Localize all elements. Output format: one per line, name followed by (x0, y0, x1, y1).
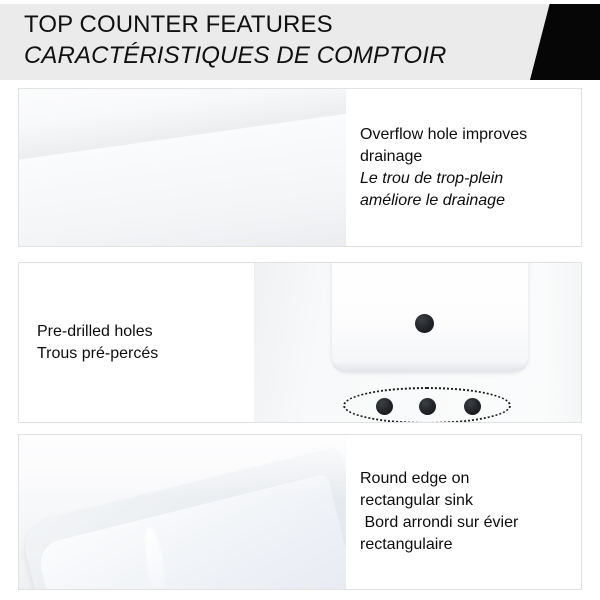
caption-line: drainage (360, 146, 569, 168)
feature-panel-round-edge: Round edge on rectangular sink Bord arro… (18, 434, 582, 590)
page-title-en: TOP COUNTER FEATURES (24, 9, 544, 40)
caption-line: Round edge on (360, 468, 569, 490)
page-title-fr: CARACTÉRISTIQUES DE COMPTOIR (24, 40, 544, 71)
header-title-block: TOP COUNTER FEATURES CARACTÉRISTIQUES DE… (24, 9, 544, 71)
feature-caption-pre-drilled-holes: Pre-drilled holes Trous pré-percés (19, 263, 254, 422)
caption-line: Pre-drilled holes (37, 321, 242, 343)
caption-line: améliore le drainage (360, 190, 569, 212)
photo-top-fade (19, 435, 346, 497)
feature-caption-round-edge: Round edge on rectangular sink Bord arro… (346, 435, 581, 589)
caption-line: Overflow hole improves (360, 124, 569, 146)
caption-line: Bord arrondi sur évier (360, 512, 569, 534)
caption-line: Trous pré-percés (37, 343, 242, 365)
feature-caption-overflow-hole: Overflow hole improves drainage Le trou … (346, 89, 581, 246)
pre-drilled-hole (464, 398, 481, 415)
caption-line: Le trou de trop-plein (360, 168, 569, 190)
overflow-hole-opening (415, 314, 434, 333)
sink-overflow-hole-photo (19, 89, 346, 246)
feature-panel-pre-drilled-holes: Pre-drilled holes Trous pré-percés (18, 262, 582, 423)
pre-drilled-hole (376, 398, 393, 415)
caption-line: rectangulaire (360, 534, 569, 556)
product-feature-infographic: TOP COUNTER FEATURES CARACTÉRISTIQUES DE… (0, 0, 600, 600)
photo-edge-fade (543, 263, 581, 422)
sink-basin-edge (332, 361, 528, 371)
header-banner: TOP COUNTER FEATURES CARACTÉRISTIQUES DE… (0, 4, 600, 80)
feature-panel-overflow-hole: Overflow hole improves drainage Le trou … (18, 88, 582, 247)
sink-round-edge-photo (19, 435, 346, 589)
pre-drilled-hole (419, 398, 436, 415)
caption-line: rectangular sink (360, 490, 569, 512)
sink-pre-drilled-holes-photo (254, 263, 581, 422)
